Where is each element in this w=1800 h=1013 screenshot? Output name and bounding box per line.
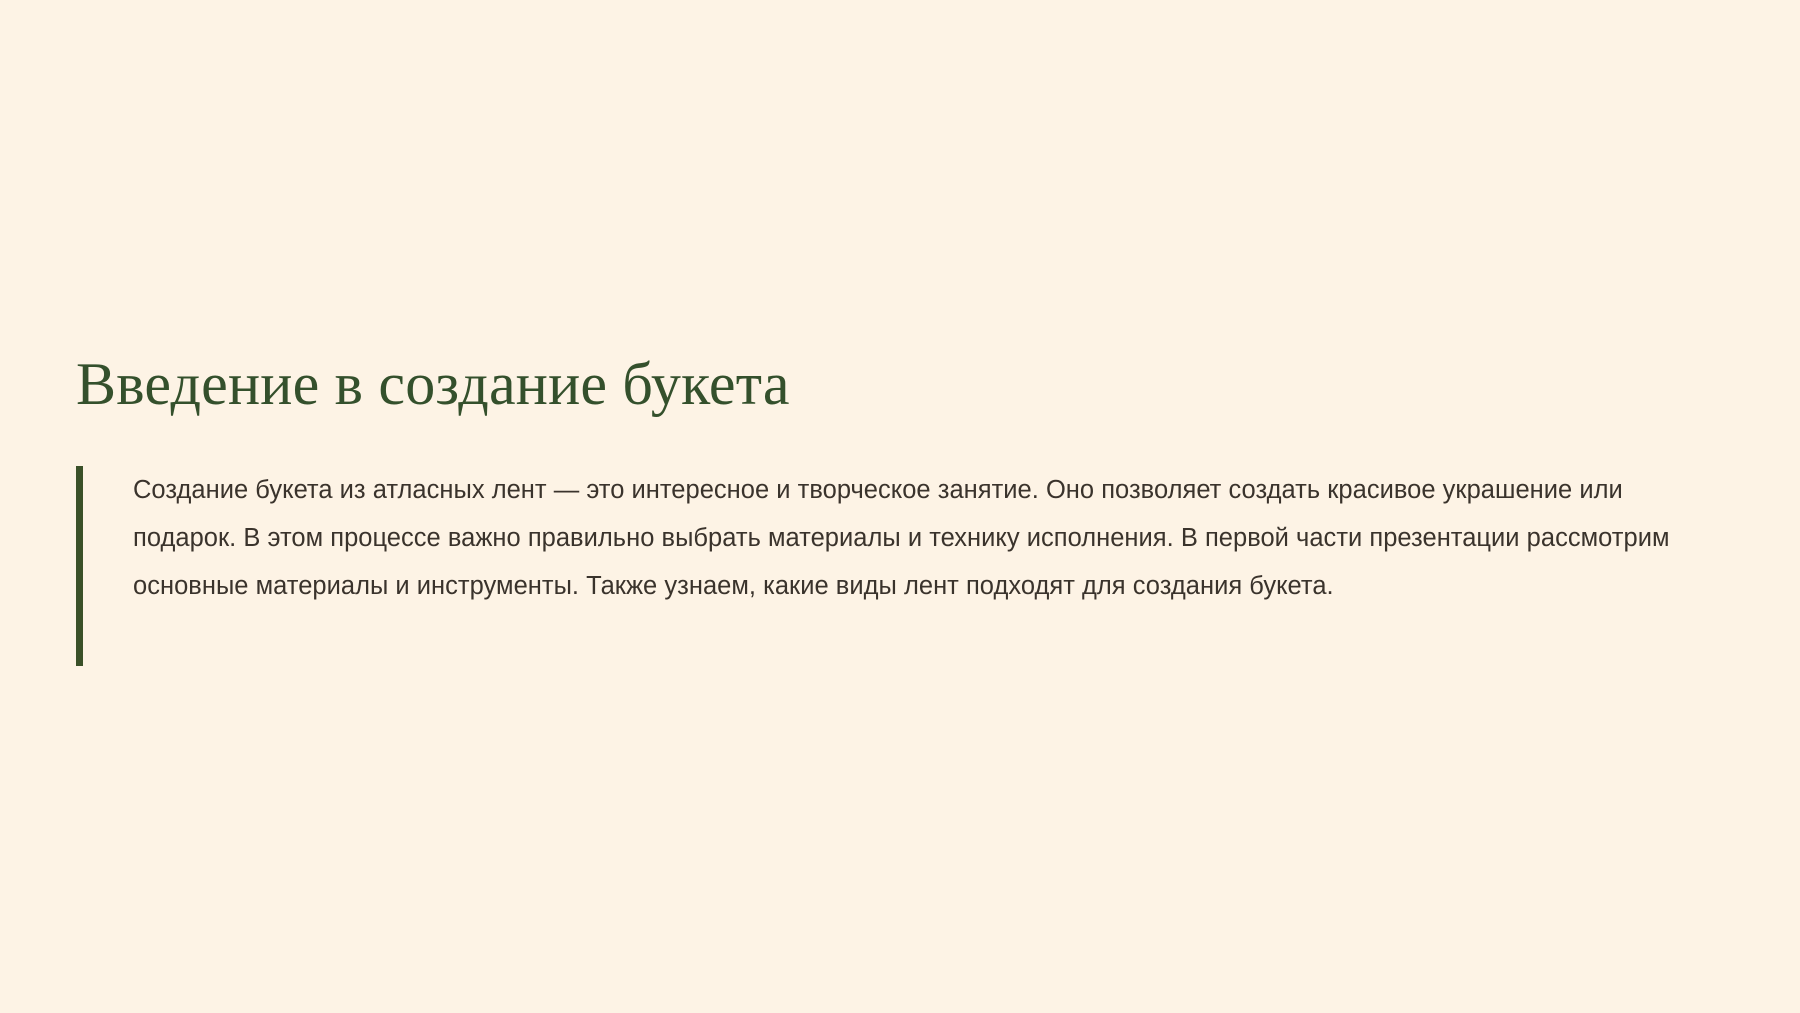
body-paragraph: Создание букета из атласных лент — это и… bbox=[133, 466, 1716, 610]
slide-canvas: Введение в создание букета Создание буке… bbox=[0, 0, 1800, 1013]
slide-content: Введение в создание букета Создание буке… bbox=[76, 352, 1716, 666]
accent-bar bbox=[76, 466, 83, 666]
page-title: Введение в создание букета bbox=[76, 352, 1716, 417]
body-block: Создание букета из атласных лент — это и… bbox=[76, 466, 1716, 666]
